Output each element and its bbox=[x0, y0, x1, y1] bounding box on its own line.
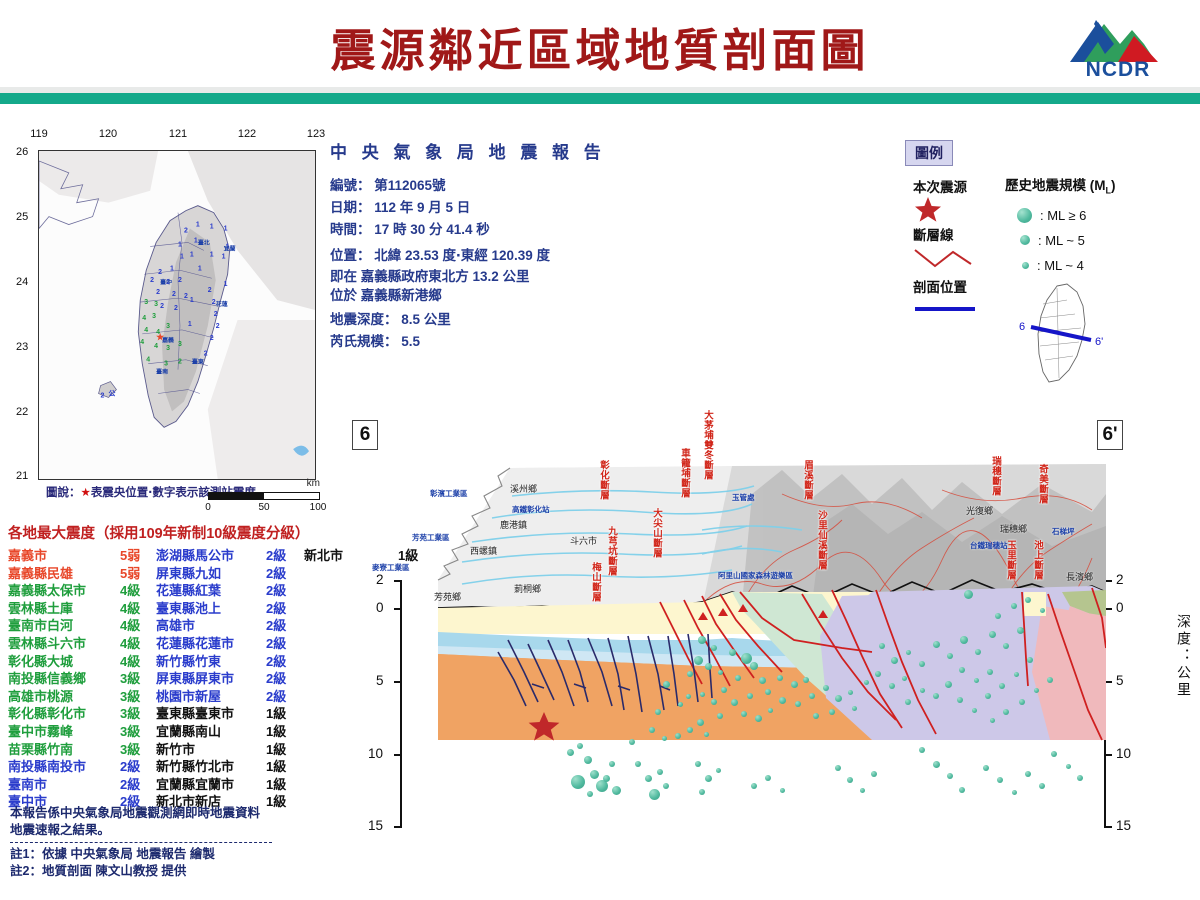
intensity-value: 4級 bbox=[120, 600, 156, 618]
intensity-value: 2級 bbox=[266, 600, 302, 618]
divider bbox=[10, 842, 272, 843]
place-label: 台鐵瑞穗站 bbox=[970, 540, 1008, 551]
svg-text:2: 2 bbox=[158, 269, 162, 276]
section-left-marker: 6 bbox=[352, 420, 378, 450]
legend-section-symbol bbox=[913, 296, 1003, 322]
svg-text:3: 3 bbox=[152, 313, 156, 320]
svg-text:1: 1 bbox=[196, 222, 200, 229]
intensity-place: 桃園市新屋 bbox=[156, 688, 276, 706]
intensity-place: 宜蘭縣宜蘭市 bbox=[156, 776, 276, 794]
place-label: 彰濱工業區 bbox=[430, 488, 468, 499]
epicenter-star-glyph: ★ bbox=[81, 487, 91, 499]
inset-right-marker: 6' bbox=[1095, 336, 1103, 348]
axis-tick bbox=[394, 754, 402, 756]
intensity-place: 雲林縣斗六市 bbox=[8, 635, 128, 653]
place-label: 斗六市 bbox=[570, 534, 597, 547]
fault-label: 眉溪斷層 bbox=[800, 460, 814, 500]
fault-label: 池上斷層 bbox=[1030, 540, 1044, 580]
intensity-value: 4級 bbox=[120, 582, 156, 600]
svg-text:1: 1 bbox=[198, 265, 202, 272]
intensity-value: 5弱 bbox=[120, 565, 156, 583]
depth-tick-label: 0 bbox=[376, 600, 384, 615]
depth-tick-label: 15 bbox=[1116, 818, 1131, 833]
report-township: 位於 嘉義縣新港鄉 bbox=[330, 286, 660, 305]
legend-magnitude-item: : ML ~ 4 bbox=[1005, 253, 1195, 278]
intensity-value: 2級 bbox=[120, 758, 156, 776]
axis-tick bbox=[394, 608, 402, 610]
svg-text:2: 2 bbox=[172, 291, 176, 298]
lat-tick: 26 bbox=[16, 146, 28, 158]
svg-text:2: 2 bbox=[216, 323, 220, 330]
left-panel: 119 120 121 122 123 26 25 24 23 22 21 bbox=[8, 128, 326, 498]
legend-magnitude-item: : ML ~ 5 bbox=[1005, 228, 1195, 253]
section-line-icon bbox=[913, 302, 977, 316]
fault-label: 瑞穗斷層 bbox=[988, 456, 1002, 496]
intensity-place: 嘉義市 bbox=[8, 547, 128, 565]
legend-section-label: 剖面位置 bbox=[913, 276, 1003, 296]
report-time: 時間： 17 時 30 分 41.4 秒 bbox=[330, 219, 660, 241]
intensity-value: 3級 bbox=[120, 670, 156, 688]
intensity-value: 2級 bbox=[266, 635, 302, 653]
svg-text:1: 1 bbox=[190, 297, 194, 304]
cwb-report-title: 中 央 氣 象 局 地 震 報 告 bbox=[330, 138, 660, 163]
depth-tick-label: 5 bbox=[376, 673, 384, 688]
intensity-place: 彰化縣彰化市 bbox=[8, 705, 128, 723]
svg-text:2: 2 bbox=[160, 303, 164, 310]
intensity-map[interactable]: 119 120 121 122 123 26 25 24 23 22 21 bbox=[8, 128, 326, 498]
fault-label: 沙里仙溪斷層 bbox=[814, 510, 828, 570]
place-label: 溪州鄉 bbox=[510, 482, 537, 495]
fault-label: 梅山斷層 bbox=[588, 562, 602, 602]
intensity-value: 2級 bbox=[266, 547, 302, 565]
fault-label: 九芎坑斷層 bbox=[604, 526, 618, 576]
legend-fault-label: 斷層線 bbox=[913, 224, 1003, 244]
svg-text:1: 1 bbox=[190, 251, 194, 258]
taiwan-inset-map: 6 6' bbox=[1005, 282, 1125, 387]
magnitude-dot-small bbox=[1022, 262, 1029, 269]
svg-text:2: 2 bbox=[184, 228, 188, 235]
intensity-value: 2級 bbox=[266, 670, 302, 688]
svg-text:1: 1 bbox=[188, 321, 192, 328]
svg-text:1: 1 bbox=[210, 251, 214, 258]
place-label: 長濱鄉 bbox=[1066, 570, 1093, 583]
taiwan-inset-svg: 6 6' bbox=[1005, 282, 1125, 387]
report-number: 編號： 第112065號 bbox=[330, 175, 660, 197]
intensity-value: 3級 bbox=[120, 723, 156, 741]
intensity-value: 2級 bbox=[266, 688, 302, 706]
intensity-place: 臺南市 bbox=[8, 776, 128, 794]
intensity-place: 南投縣信義鄉 bbox=[8, 670, 128, 688]
intensity-place: 臺東縣臺東市 bbox=[156, 705, 276, 723]
intensity-value: 4級 bbox=[120, 653, 156, 671]
legend-epicenter-label: 本次震源 bbox=[913, 176, 1003, 196]
svg-text:臺南: 臺南 bbox=[156, 368, 168, 376]
intensity-table-title: 各地最大震度（採用109年新制10級震度分級） bbox=[8, 522, 338, 543]
place-label: 石梯坪 bbox=[1052, 526, 1075, 537]
report-depth: 地震深度： 8.5 公里 bbox=[330, 309, 660, 331]
place-label: 芳苑鄉 bbox=[434, 590, 461, 603]
lat-tick: 23 bbox=[16, 341, 28, 353]
svg-text:4: 4 bbox=[140, 339, 144, 346]
intensity-place-column: 嘉義市嘉義縣民雄嘉義縣太保市雲林縣土庫臺南市白河雲林縣斗六市彰化縣大城南投縣信義… bbox=[8, 547, 128, 811]
intensity-place: 高雄市 bbox=[156, 617, 276, 635]
intensity-place: 臺東縣池上 bbox=[156, 600, 276, 618]
legend-magnitude-label: : ML ~ 5 bbox=[1038, 233, 1085, 248]
lon-tick: 120 bbox=[99, 128, 117, 140]
svg-text:1: 1 bbox=[210, 224, 214, 231]
intensity-place: 嘉義縣太保市 bbox=[8, 582, 128, 600]
svg-text:2: 2 bbox=[101, 392, 105, 399]
intensity-value: 1級 bbox=[266, 776, 302, 794]
lat-tick: 25 bbox=[16, 211, 28, 223]
place-label: 莿桐鄉 bbox=[514, 582, 541, 595]
intensity-value: 2級 bbox=[266, 617, 302, 635]
legend-magnitude-title-close: ) bbox=[1111, 178, 1116, 193]
axis-tick bbox=[394, 681, 402, 683]
depth-tick-label: 15 bbox=[368, 818, 383, 833]
ncdr-logo: NCDR bbox=[1058, 14, 1178, 84]
svg-text:2: 2 bbox=[208, 287, 212, 294]
intensity-place: 澎湖縣馬公市 bbox=[156, 547, 276, 565]
svg-text:2: 2 bbox=[150, 277, 154, 284]
intensity-place: 花蓮縣紅葉 bbox=[156, 582, 276, 600]
intensity-value: 2級 bbox=[266, 582, 302, 600]
intensity-place: 花蓮縣花蓮市 bbox=[156, 635, 276, 653]
intensity-place: 新竹縣竹東 bbox=[156, 653, 276, 671]
map-canvas[interactable]: 211 111 111 111 122 222 222 222 222 211 … bbox=[38, 150, 316, 480]
svg-text:2: 2 bbox=[174, 305, 178, 312]
svg-text:4: 4 bbox=[142, 315, 146, 322]
lon-tick: 121 bbox=[169, 128, 187, 140]
depth-tick-label: 2 bbox=[376, 572, 384, 587]
intensity-value-column: 2級2級2級2級2級2級2級2級2級1級1級1級1級1級1級 bbox=[266, 547, 302, 811]
svg-text:臺東: 臺東 bbox=[192, 358, 204, 366]
intensity-place: 新竹縣竹北市 bbox=[156, 758, 276, 776]
scalebar-tick: 100 bbox=[310, 502, 327, 513]
fault-label: 大尖山斷層 bbox=[649, 508, 663, 558]
svg-text:3: 3 bbox=[178, 341, 182, 348]
accent-band bbox=[0, 92, 1200, 104]
legend-magnitude-title-text: 歷史地震規模 (M bbox=[1005, 178, 1106, 193]
place-label: 麥寮工業區 bbox=[372, 562, 410, 573]
intensity-value: 2級 bbox=[120, 776, 156, 794]
svg-text:公: 公 bbox=[108, 390, 115, 398]
svg-text:2: 2 bbox=[214, 311, 218, 318]
intensity-rows: 嘉義市嘉義縣民雄嘉義縣太保市雲林縣土庫臺南市白河雲林縣斗六市彰化縣大城南投縣信義… bbox=[8, 547, 338, 811]
depth-tick-label: 10 bbox=[368, 746, 383, 761]
intensity-table: 各地最大震度（採用109年新制10級震度分級） 嘉義市嘉義縣民雄嘉義縣太保市雲林… bbox=[8, 522, 338, 811]
fault-label: 奇美斷層 bbox=[1035, 464, 1049, 504]
legend-symbols: 本次震源 斷層線 剖面位置 bbox=[913, 174, 1003, 322]
svg-text:2: 2 bbox=[204, 351, 208, 358]
intensity-value: 1級 bbox=[266, 741, 302, 759]
lat-tick: 21 bbox=[16, 470, 28, 482]
svg-text:花蓮: 花蓮 bbox=[216, 300, 228, 308]
intensity-value: 1級 bbox=[266, 723, 302, 741]
source-line-1: 本報告係中央氣象局地震觀測網即時地震資料 bbox=[10, 805, 340, 822]
cwb-earthquake-report: 中 央 氣 象 局 地 震 報 告 編號： 第112065號 日期： 112 年… bbox=[330, 138, 660, 353]
svg-text:2: 2 bbox=[184, 293, 188, 300]
svg-text:宜蘭: 宜蘭 bbox=[224, 244, 236, 252]
intensity-place: 雲林縣土庫 bbox=[8, 600, 128, 618]
intensity-place-column: 澎湖縣馬公市屏東縣九如花蓮縣紅葉臺東縣池上高雄市花蓮縣花蓮市新竹縣竹東屏東縣屏東… bbox=[156, 547, 276, 811]
intensity-place: 高雄市桃源 bbox=[8, 688, 128, 706]
intensity-place: 臺中市霧峰 bbox=[8, 723, 128, 741]
map-caption-prefix: 圖說： bbox=[46, 487, 81, 499]
place-label: 瑞穗鄉 bbox=[1000, 522, 1027, 535]
svg-text:3: 3 bbox=[166, 323, 170, 330]
intensity-value: 4級 bbox=[120, 617, 156, 635]
intensity-place: 南投縣南投市 bbox=[8, 758, 128, 776]
legend-epicenter-symbol bbox=[913, 196, 1003, 222]
legend-magnitude-label: : ML ~ 4 bbox=[1037, 258, 1084, 273]
svg-text:4: 4 bbox=[154, 343, 158, 350]
svg-text:嘉義: 嘉義 bbox=[161, 336, 174, 344]
page-header: 震源鄰近區域地質剖面圖 NCDR bbox=[0, 0, 1200, 92]
place-label: 高鐵彰化站 bbox=[512, 504, 550, 515]
ncdr-logo-text: NCDR bbox=[1058, 58, 1178, 82]
intensity-value: 2級 bbox=[266, 653, 302, 671]
scalebar-unit: km bbox=[307, 478, 320, 489]
svg-text:4: 4 bbox=[146, 357, 150, 364]
lon-tick: 122 bbox=[238, 128, 256, 140]
intensity-value: 3級 bbox=[120, 705, 156, 723]
svg-text:3: 3 bbox=[164, 361, 168, 368]
intensity-value: 1級 bbox=[266, 705, 302, 723]
place-label: 玉管處 bbox=[732, 492, 755, 503]
svg-text:臺中: 臺中 bbox=[160, 278, 172, 286]
svg-text:1: 1 bbox=[222, 253, 226, 260]
magnitude-dot-large bbox=[1017, 208, 1032, 223]
legend-badge: 圖例 bbox=[905, 140, 953, 166]
intensity-value: 1級 bbox=[266, 758, 302, 776]
report-position: 位置： 北緯 23.53 度‧東經 120.39 度 bbox=[330, 245, 660, 267]
svg-text:2: 2 bbox=[210, 335, 214, 342]
svg-text:1: 1 bbox=[224, 226, 228, 233]
footnote-2: 註2：地質剖面 陳文山教授 提供 bbox=[10, 863, 340, 880]
intensity-place: 臺南市白河 bbox=[8, 617, 128, 635]
lat-tick: 24 bbox=[16, 276, 28, 288]
lat-tick: 22 bbox=[16, 406, 28, 418]
depth-tick-label: 10 bbox=[1116, 746, 1131, 761]
svg-text:3: 3 bbox=[166, 345, 170, 352]
place-label: 芳苑工業區 bbox=[412, 532, 450, 543]
intensity-value: 3級 bbox=[120, 741, 156, 759]
legend-magnitude: 歷史地震規模 (ML) : ML ≥ 6 : ML ~ 5 : ML ~ 4 bbox=[1005, 174, 1195, 278]
footnote-1: 註1：依據 中央氣象局 地震報告 繪製 bbox=[10, 846, 340, 863]
svg-text:2: 2 bbox=[178, 277, 182, 284]
legend-magnitude-title: 歷史地震規模 (ML) bbox=[1005, 174, 1195, 196]
svg-text:4: 4 bbox=[144, 327, 148, 334]
epicenter-star-icon bbox=[526, 710, 562, 744]
legend-magnitude-item: : ML ≥ 6 bbox=[1005, 203, 1195, 228]
report-distance: 即在 嘉義縣政府東北方 13.2 公里 bbox=[330, 267, 660, 286]
intensity-place: 宜蘭縣南山 bbox=[156, 723, 276, 741]
intensity-place: 嘉義縣民雄 bbox=[8, 565, 128, 583]
source-line-2: 地震速報之結果。 bbox=[10, 822, 340, 839]
intensity-place: 苗栗縣竹南 bbox=[8, 741, 128, 759]
map-terrain: 211 111 111 111 122 222 222 222 222 211 … bbox=[39, 151, 315, 479]
intensity-place: 屏東縣九如 bbox=[156, 565, 276, 583]
intensity-value: 2級 bbox=[266, 565, 302, 583]
svg-text:2: 2 bbox=[156, 289, 160, 296]
intensity-value: 3級 bbox=[120, 688, 156, 706]
report-source-note: 本報告係中央氣象局地震觀測網即時地震資料 地震速報之結果。 註1：依據 中央氣象… bbox=[10, 805, 340, 880]
intensity-value: 4級 bbox=[120, 635, 156, 653]
inset-left-marker: 6 bbox=[1019, 321, 1025, 333]
svg-text:3: 3 bbox=[144, 299, 148, 306]
axis-tick bbox=[394, 826, 402, 828]
star-icon bbox=[913, 195, 943, 223]
magnitude-dot-medium bbox=[1020, 235, 1030, 245]
report-date: 日期： 112 年 9 月 5 日 bbox=[330, 197, 660, 219]
svg-text:1: 1 bbox=[170, 265, 174, 272]
depth-axis-title: 深度：公里 bbox=[1142, 614, 1194, 699]
intensity-value-column: 5弱5弱4級4級4級4級4級3級3級3級3級3級2級2級2級 bbox=[120, 547, 156, 811]
depth-tick-label: 5 bbox=[1116, 673, 1124, 688]
legend-magnitude-label: : ML ≥ 6 bbox=[1040, 208, 1086, 223]
fault-line-icon bbox=[913, 246, 973, 268]
scalebar-tick: 0 bbox=[205, 502, 211, 513]
svg-text:1: 1 bbox=[224, 281, 228, 288]
page-title: 震源鄰近區域地質剖面圖 bbox=[0, 14, 1200, 79]
scalebar-tick: 50 bbox=[258, 502, 269, 513]
depth-tick-label: 2 bbox=[1116, 572, 1124, 587]
place-label: 西螺鎮 bbox=[470, 544, 497, 557]
fault-label: 車籠埔斷層 bbox=[677, 448, 691, 498]
place-label: 阿里山國家森林遊樂區 bbox=[718, 570, 793, 581]
legend-panel: 圖例 本次震源 斷層線 剖面位置 歷史地震規模 (ML) : ML ≥ 6 bbox=[905, 140, 1195, 166]
svg-text:2: 2 bbox=[178, 359, 182, 366]
place-label: 光復鄉 bbox=[966, 504, 993, 517]
depth-tick-label: 0 bbox=[1116, 600, 1124, 615]
lon-tick: 119 bbox=[30, 128, 48, 140]
svg-text:臺北: 臺北 bbox=[198, 238, 210, 246]
intensity-place: 新竹市 bbox=[156, 741, 276, 759]
svg-text:3: 3 bbox=[154, 301, 158, 308]
scalebar-ticks: 0 50 100 bbox=[208, 502, 320, 514]
svg-text:1: 1 bbox=[180, 253, 184, 260]
intensity-place: 屏東縣屏東市 bbox=[156, 670, 276, 688]
scalebar-bar bbox=[208, 492, 320, 500]
fault-label: 彰化斷層 bbox=[596, 460, 610, 500]
lon-tick: 123 bbox=[307, 128, 325, 140]
place-label: 鹿港鎮 bbox=[500, 518, 527, 531]
intensity-value: 5弱 bbox=[120, 547, 156, 565]
fault-label: 大茅埔雙冬斷層 bbox=[700, 410, 714, 480]
svg-text:1: 1 bbox=[178, 241, 182, 248]
legend-fault-symbol bbox=[913, 244, 1003, 270]
report-magnitude: 芮氏規模： 5.5 bbox=[330, 331, 660, 353]
geological-cross-section[interactable]: 6 6' 2 0 5 10 15 2 0 5 10 15 深度：公里 bbox=[352, 404, 1152, 844]
intensity-place: 彰化縣大城 bbox=[8, 653, 128, 671]
axis-tick bbox=[394, 580, 402, 582]
